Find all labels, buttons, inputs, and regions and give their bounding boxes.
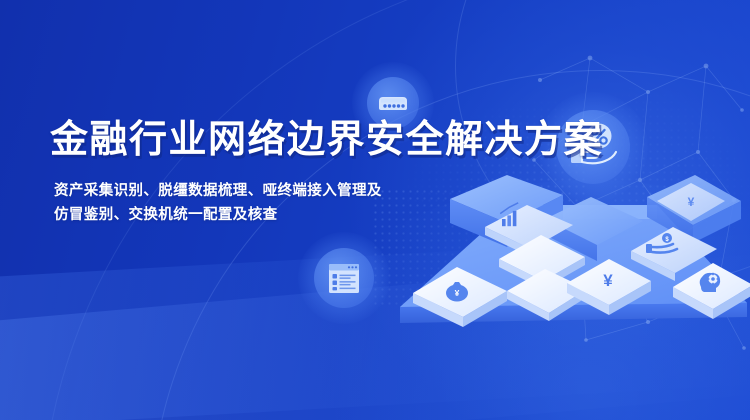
page-title: 金融行业网络边界安全解决方案: [50, 118, 520, 162]
document-badge: [298, 232, 390, 324]
svg-text:¥: ¥: [455, 288, 460, 298]
yen-symbol-small: ¥: [688, 195, 695, 209]
isometric-platform: ¥ ¥ $: [395, 175, 750, 355]
document-list-icon: [321, 255, 367, 301]
yen-symbol: ¥: [603, 271, 613, 290]
banner: 金融行业网络边界安全解决方案 资产采集识别、脱缰数据梳理、哑终端接入管理及 仿冒…: [0, 0, 750, 420]
